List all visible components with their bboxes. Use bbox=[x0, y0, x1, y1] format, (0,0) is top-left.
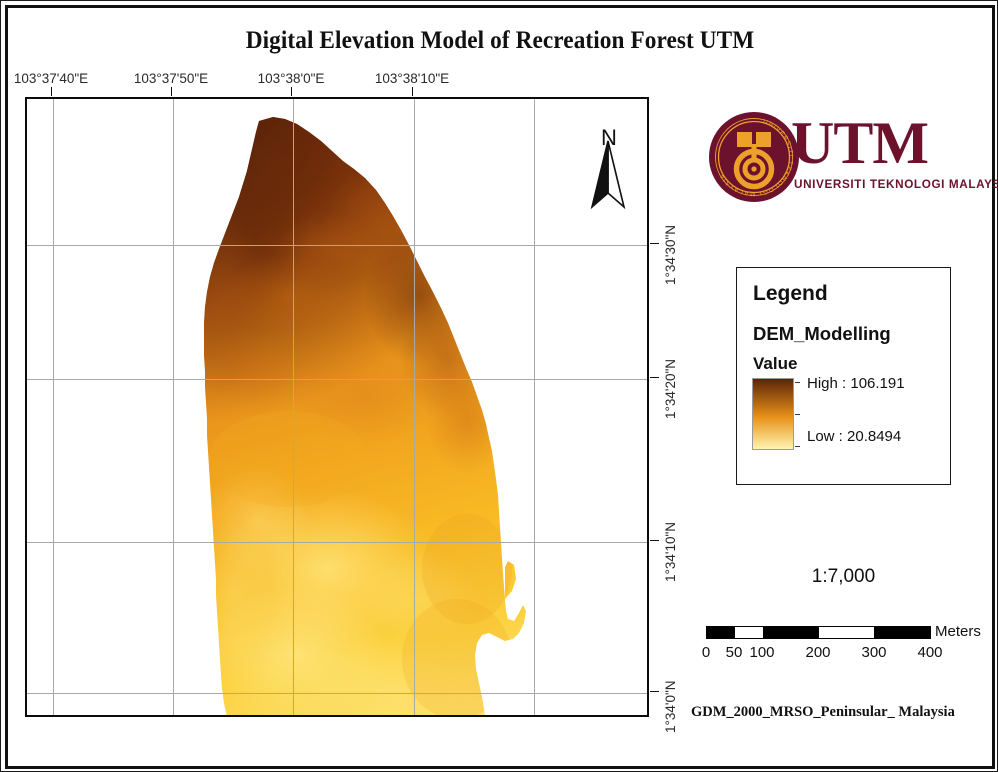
longitude-tick-label: 103°38'0"E bbox=[258, 71, 325, 86]
legend-title: Legend bbox=[753, 282, 828, 306]
latitude-tick-mark bbox=[650, 377, 659, 378]
gridline-vertical bbox=[534, 99, 535, 715]
gridline-vertical bbox=[53, 99, 54, 715]
gridline-horizontal bbox=[27, 542, 647, 543]
page-title: Digital Elevation Model of Recreation Fo… bbox=[36, 27, 964, 55]
latitude-tick-mark bbox=[650, 243, 659, 244]
latitude-tick-label: 1°34'30"N bbox=[663, 225, 678, 285]
utm-wordmark: UTM bbox=[791, 115, 928, 173]
scale-bar-tick-label: 200 bbox=[805, 644, 830, 661]
longitude-tick-mark bbox=[412, 87, 413, 96]
scale-bar-segment bbox=[874, 627, 930, 638]
legend-tick-mid bbox=[795, 414, 800, 415]
scale-bar-tick-label: 300 bbox=[861, 644, 886, 661]
latitude-tick-label: 1°34'10"N bbox=[663, 522, 678, 582]
utm-seal: UNIVERSITI TEKNOLOGI MALAYSIA bbox=[709, 112, 799, 202]
latitude-tick-label: 1°34'20"N bbox=[663, 359, 678, 419]
utm-tagline: UNIVERSITI TEKNOLOGI MALAYSIA bbox=[794, 179, 998, 191]
scale-bar-segment bbox=[819, 627, 875, 638]
scale-bar-tick-label: 50 bbox=[726, 644, 743, 661]
longitude-tick-mark bbox=[171, 87, 172, 96]
gridline-horizontal bbox=[27, 379, 647, 380]
scale-bar-tick-label: 100 bbox=[749, 644, 774, 661]
longitude-tick-label: 103°37'50"E bbox=[134, 71, 208, 86]
gridline-vertical bbox=[173, 99, 174, 715]
dem-raster-layer bbox=[27, 99, 649, 717]
legend-high-label: High : 106.191 bbox=[807, 375, 905, 392]
scale-bar-unit: Meters bbox=[935, 623, 981, 640]
scale-bar-tick-label: 0 bbox=[702, 644, 710, 661]
coordinate-system-note: GDM_2000_MRSO_Peninsular_ Malaysia bbox=[691, 704, 955, 721]
longitude-tick-label: 103°37'40"E bbox=[14, 71, 88, 86]
scale-bar-segment bbox=[707, 627, 735, 638]
north-arrow-icon bbox=[586, 127, 630, 211]
scale-bar-segment bbox=[763, 627, 819, 638]
scale-ratio-label: 1:7,000 bbox=[736, 566, 951, 588]
legend-tick-high bbox=[795, 382, 800, 383]
scale-bar bbox=[706, 626, 931, 639]
map-page: Digital Elevation Model of Recreation Fo… bbox=[0, 0, 998, 772]
gridline-horizontal bbox=[27, 245, 647, 246]
gridline-vertical bbox=[414, 99, 415, 715]
legend-value-heading: Value bbox=[753, 354, 797, 374]
legend-tick-low bbox=[795, 446, 800, 447]
latitude-tick-mark bbox=[650, 540, 659, 541]
gridline-horizontal bbox=[27, 693, 647, 694]
dem-fill bbox=[27, 99, 649, 717]
longitude-tick-mark bbox=[51, 87, 52, 96]
map-canvas[interactable] bbox=[25, 97, 649, 717]
longitude-tick-label: 103°38'10"E bbox=[375, 71, 449, 86]
scale-bar-tick-label: 400 bbox=[917, 644, 942, 661]
legend-low-label: Low : 20.8494 bbox=[807, 428, 901, 445]
longitude-tick-mark bbox=[291, 87, 292, 96]
legend-layer-name: DEM_Modelling bbox=[753, 323, 891, 345]
latitude-tick-label: 1°34'0"N bbox=[663, 680, 678, 733]
gridline-vertical bbox=[293, 99, 294, 715]
scale-bar-segment bbox=[735, 627, 763, 638]
latitude-tick-mark bbox=[650, 691, 659, 692]
legend-color-ramp bbox=[752, 378, 794, 450]
